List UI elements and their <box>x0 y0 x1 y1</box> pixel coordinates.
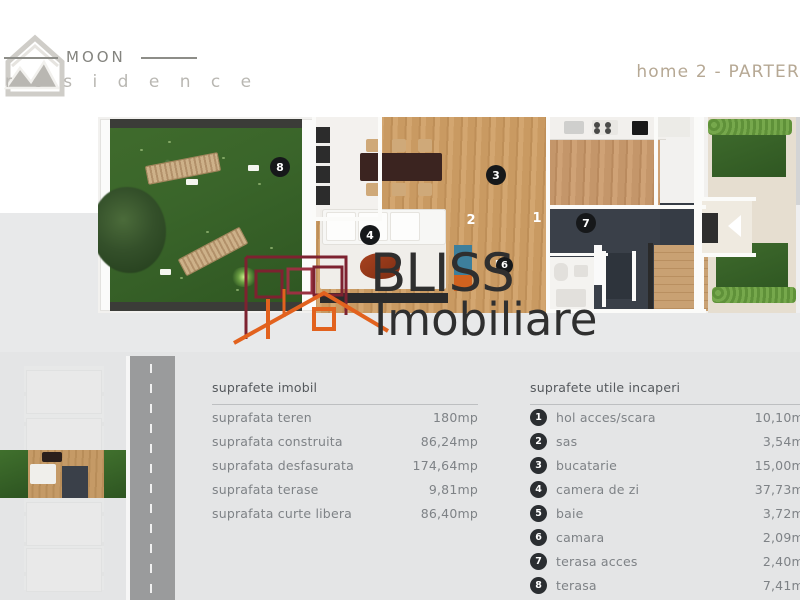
area-row-label: suprafata curte libera <box>212 506 386 521</box>
room-number-badge: 6 <box>530 529 547 546</box>
staircase-rail <box>648 243 653 313</box>
room-row-label: sas <box>556 434 738 449</box>
brand-name-primary: MOON <box>66 48 126 66</box>
area-row-value: 86,24mp <box>386 434 478 449</box>
plan-marker-4: 4 <box>360 225 380 245</box>
room-row-label: terasa <box>556 578 738 593</box>
thumbnail-highlight-living <box>30 464 56 484</box>
garden-light <box>248 165 259 171</box>
hedge-upper <box>708 119 792 135</box>
room-number-badge: 1 <box>530 409 547 426</box>
watermark-line-2: Imobiliare <box>374 293 597 346</box>
room-number-badge: 5 <box>530 505 547 522</box>
area-row-label: suprafata teren <box>212 410 386 425</box>
room-row: 6camara2,09mp <box>530 525 800 549</box>
wall <box>632 251 636 301</box>
room-number-badge: 2 <box>530 433 547 450</box>
area-row: suprafata curte libera86,40mp <box>212 501 478 525</box>
kitchen-upper-cabinet <box>658 117 690 137</box>
sofa-cushion <box>390 212 420 241</box>
room-row-label: hol acces/scara <box>556 410 738 425</box>
page-header: MOON r e s i d e n c e home 2 - PARTER <box>0 0 800 118</box>
room-row-label: camera de zi <box>556 482 738 497</box>
plan-marker-3: 3 <box>486 165 506 185</box>
room-row-value: 2,40mp <box>738 554 800 569</box>
site-plan-thumbnail[interactable] <box>0 356 175 600</box>
wall <box>546 205 706 209</box>
room-row-value: 3,54mp <box>738 434 800 449</box>
entrance-arrow-icon <box>728 215 741 237</box>
area-row: suprafata desfasurata174,64mp <box>212 453 478 477</box>
garden-top-edge <box>110 119 302 128</box>
interior-door <box>594 245 602 285</box>
page-title: home 2 - PARTER <box>636 62 800 82</box>
plan-marker-8: 8 <box>270 157 290 177</box>
area-row: suprafata terase9,81mp <box>212 477 478 501</box>
hedge-lower <box>712 287 796 303</box>
room-row-value: 2,09mp <box>738 530 800 545</box>
room-row: 2sas3,54mp <box>530 429 800 453</box>
dining-chair <box>392 183 406 196</box>
panel-right-title: suprafete utile incaperi <box>530 380 800 395</box>
agency-watermark: BLISS Imobiliare <box>228 243 578 363</box>
area-row-value: 9,81mp <box>386 482 478 497</box>
area-row-value: 86,40mp <box>386 506 478 521</box>
front-lawn-upper <box>712 131 786 177</box>
wall <box>698 253 756 257</box>
panel-right-rows: 1hol acces/scara10,10mp2sas3,54mp3bucata… <box>530 405 800 597</box>
thumbnail-highlight-hall <box>62 466 88 498</box>
dining-chair <box>418 139 432 152</box>
room-row-value: 10,10mp <box>738 410 800 425</box>
area-row: suprafata construita86,24mp <box>212 429 478 453</box>
wall <box>314 217 382 221</box>
area-row-value: 180mp <box>386 410 478 425</box>
room-number-badge: 7 <box>530 553 547 570</box>
room-number-badge: 3 <box>530 457 547 474</box>
room-row-label: camara <box>556 530 738 545</box>
panel-left-title: suprafete imobil <box>212 380 478 395</box>
area-row-value: 174,64mp <box>386 458 478 473</box>
thumbnail-highlight-table <box>42 452 62 462</box>
plan-marker-7: 7 <box>576 213 596 233</box>
thumbnail-highlight-garden-left <box>0 450 28 498</box>
garden-light <box>160 269 171 275</box>
room-row: 5baie3,72mp <box>530 501 800 525</box>
room-number-badge: 4 <box>530 481 547 498</box>
area-row-label: suprafata desfasurata <box>212 458 386 473</box>
area-row-label: suprafata terase <box>212 482 386 497</box>
pantry <box>606 253 634 299</box>
garden-light <box>186 179 198 185</box>
room-row-label: terasa acces <box>556 554 738 569</box>
kitchen-appliance <box>632 121 648 135</box>
room-areas-panel: suprafete utile incaperi 1hol acces/scar… <box>530 380 800 597</box>
thumbnail-dim-overlay-bottom <box>0 498 130 600</box>
plan-marker-2: 2 <box>464 213 478 227</box>
wall <box>698 197 756 201</box>
plan-marker-1: 1 <box>530 211 544 225</box>
dining-chair <box>418 183 432 196</box>
room-row-label: baie <box>556 506 738 521</box>
wall <box>602 251 606 307</box>
area-row: suprafata teren180mp <box>212 405 478 429</box>
room-row-value: 37,73mp <box>738 482 800 497</box>
room-row: 3bucatarie15,00mp <box>530 453 800 477</box>
thumbnail-road <box>130 356 175 600</box>
dining-table <box>360 153 442 181</box>
room-row-value: 7,41mp <box>738 578 800 593</box>
brand-name-secondary: r e s i d e n c e <box>5 72 259 92</box>
room-row: 1hol acces/scara10,10mp <box>530 405 800 429</box>
area-row-label: suprafata construita <box>212 434 386 449</box>
wall <box>654 117 658 209</box>
dining-chair <box>392 139 406 152</box>
wall <box>378 117 382 221</box>
wall-shelf-unit <box>314 127 330 205</box>
room-number-badge: 8 <box>530 577 547 594</box>
panel-left-rows: suprafata teren180mpsuprafata construita… <box>212 405 478 525</box>
wall <box>694 117 698 313</box>
room-row: 8terasa7,41mp <box>530 573 800 597</box>
property-areas-panel: suprafete imobil suprafata teren180mpsup… <box>212 380 478 525</box>
brand-logo: MOON r e s i d e n c e <box>4 32 264 102</box>
thumbnail-dim-overlay-top <box>0 356 130 450</box>
logo-rule-left <box>4 57 58 59</box>
entrance-mat <box>702 213 718 243</box>
room-row-label: bucatarie <box>556 458 738 473</box>
room-row: 7terasa acces2,40mp <box>530 549 800 573</box>
kitchen-hob <box>592 120 618 135</box>
kitchen-sink <box>564 121 584 134</box>
room-row: 4camera de zi37,73mp <box>530 477 800 501</box>
room-row-value: 3,72mp <box>738 506 800 521</box>
room-row-value: 15,00mp <box>738 458 800 473</box>
logo-rule-right <box>141 57 197 59</box>
